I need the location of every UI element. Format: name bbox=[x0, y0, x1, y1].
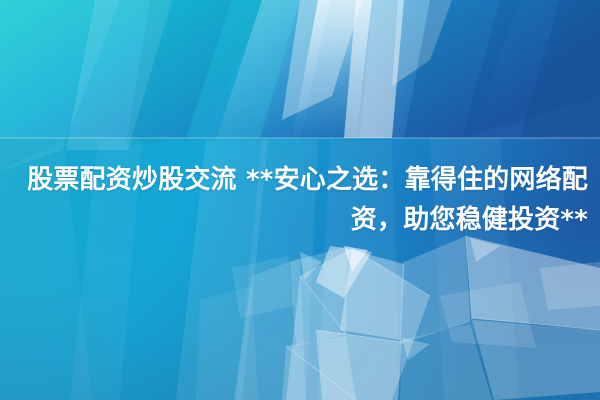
crystal-br-14 bbox=[282, 336, 356, 400]
promo-banner: 股票配资炒股交流 **安心之选：靠得住的网络配资，助您稳健投资** bbox=[0, 0, 600, 400]
band-edge-line bbox=[0, 137, 600, 139]
crystal-br-15 bbox=[196, 286, 258, 400]
crystal-br-13 bbox=[540, 262, 600, 310]
background-artwork bbox=[0, 0, 600, 400]
